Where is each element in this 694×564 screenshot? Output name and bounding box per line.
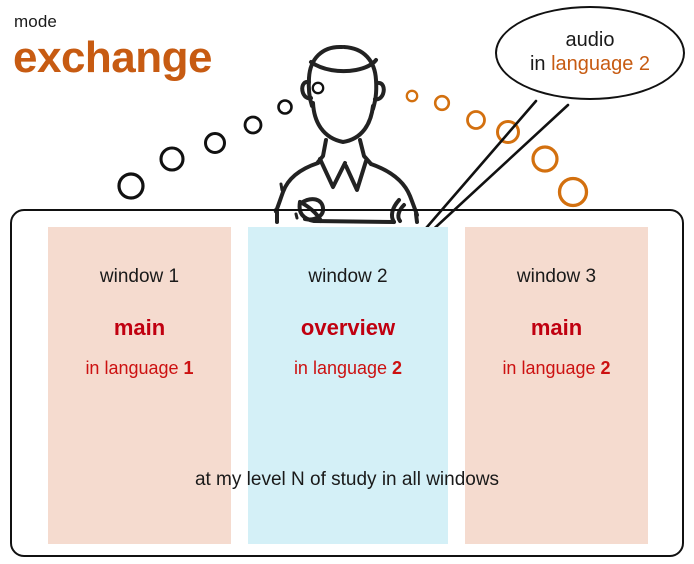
window-3-role: main: [465, 315, 648, 341]
orange-circle-arc: [407, 91, 587, 206]
bubble-line-language: in language 2: [530, 53, 650, 77]
window-panel-3[interactable]: window 3 main in language 2: [465, 227, 648, 544]
window-2-language-prefix: in language: [294, 358, 392, 378]
window-1-language-number: 1: [184, 358, 194, 378]
window-panel-1[interactable]: window 1 main in language 1: [48, 227, 231, 544]
black-circle-arc: [119, 83, 323, 198]
mode-label: mode: [14, 12, 57, 32]
mode-title: exchange: [13, 36, 212, 80]
window-2-title: window 2: [248, 266, 448, 288]
bubble-prefix: in: [530, 53, 551, 75]
window-2-language: in language 2: [248, 358, 448, 379]
window-2-language-number: 2: [392, 358, 402, 378]
bubble-accent: language 2: [551, 53, 650, 75]
window-1-title: window 1: [48, 266, 231, 288]
study-level-note: at my level N of study in all windows: [10, 469, 684, 491]
person-crossed-arms-icon: [276, 47, 417, 222]
window-1-language-prefix: in language: [85, 358, 183, 378]
window-3-language-prefix: in language: [502, 358, 600, 378]
audio-speech-bubble: audio in language 2: [495, 6, 685, 100]
window-1-role: main: [48, 315, 231, 341]
window-3-language: in language 2: [465, 358, 648, 379]
diagram-canvas: mode exchange: [0, 0, 694, 564]
window-3-language-number: 2: [601, 358, 611, 378]
window-panel-2[interactable]: window 2 overview in language 2: [248, 227, 448, 544]
window-1-language: in language 1: [48, 358, 231, 379]
bubble-line-audio: audio: [566, 29, 615, 53]
window-3-title: window 3: [465, 266, 648, 288]
windows-panels: window 1 main in language 1 window 2 ove…: [10, 209, 684, 557]
window-2-role: overview: [248, 315, 448, 341]
